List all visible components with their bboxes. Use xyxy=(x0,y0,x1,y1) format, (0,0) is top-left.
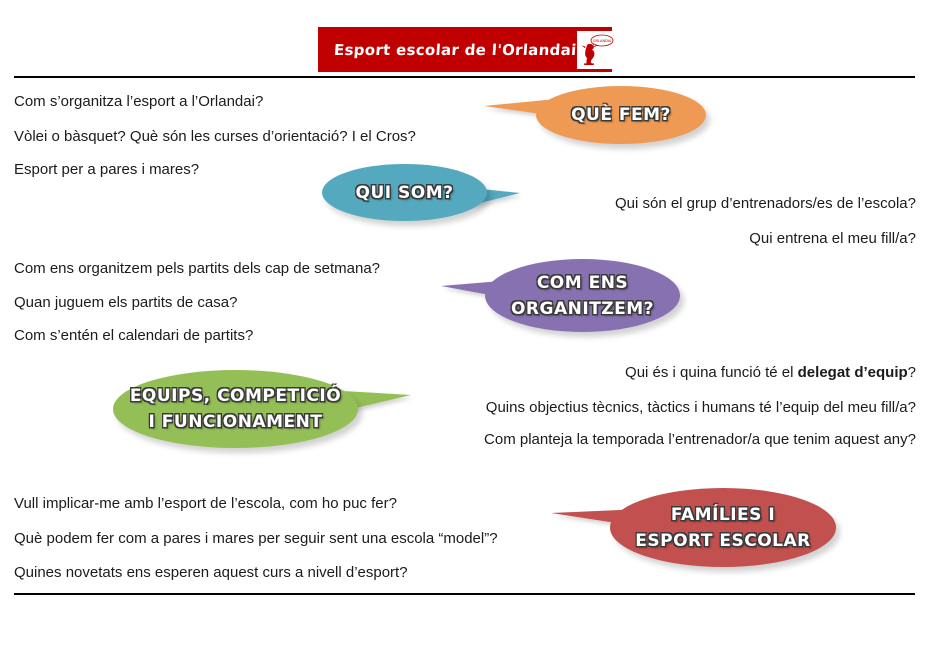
bubble-label-qui-som: QUI SOM? xyxy=(356,180,454,206)
divider-top xyxy=(14,76,915,78)
question-equips-1: Qui és i quina funció té el delegat d’eq… xyxy=(625,363,916,382)
question-que-fem-1: Com s’organitza l’esport a l’Orlandai? xyxy=(14,92,263,111)
question-qui-som-2: Qui entrena el meu fill/a? xyxy=(749,229,916,248)
speech-bubble-que-fem[interactable]: QUÈ FEM? xyxy=(536,86,706,144)
bubble-label-com-ens-line1: COM ENS xyxy=(537,270,628,296)
question-families-3: Quines novetats ens esperen aquest curs … xyxy=(14,563,408,582)
question-equips-2: Quins objectius tècnics, tàctics i human… xyxy=(486,398,916,417)
header-banner: Esport escolar de l'Orlandai ORLANDAI xyxy=(318,27,612,72)
svg-text:ORLANDAI: ORLANDAI xyxy=(592,39,611,43)
speech-bubble-com-ens-organitzem[interactable]: COM ENS ORGANITZEM? xyxy=(485,259,680,332)
question-families-1: Vull implicar-me amb l’esport de l’escol… xyxy=(14,494,397,513)
bubble-label-equips-line2: I FUNCIONAMENT xyxy=(149,409,323,435)
page-title: Esport escolar de l'Orlandai xyxy=(333,41,577,59)
speech-bubble-qui-som[interactable]: QUI SOM? xyxy=(322,164,487,221)
speech-bubble-families-esport-escolar[interactable]: FAMÍLIES I ESPORT ESCOLAR xyxy=(610,488,836,567)
question-que-fem-3: Esport per a pares i mares? xyxy=(14,160,199,179)
speech-bubble-equips-competicio[interactable]: EQUIPS, COMPETICIÓ I FUNCIONAMENT xyxy=(113,370,358,448)
question-families-2: Què podem fer com a pares i mares per se… xyxy=(14,529,498,548)
question-qui-som-1: Qui són el grup d’entrenadors/es de l’es… xyxy=(615,194,916,213)
question-com-ens-1: Com ens organitzem pels partits dels cap… xyxy=(14,259,380,278)
bubble-label-families-line1: FAMÍLIES I xyxy=(671,502,775,528)
question-equips-1-bold: delegat d’equip xyxy=(798,364,908,381)
divider-bottom xyxy=(14,593,915,595)
bubble-label-families-line2: ESPORT ESCOLAR xyxy=(635,528,810,554)
question-com-ens-3: Com s’entén el calendari de partits? xyxy=(14,326,253,345)
question-com-ens-2: Quan juguem els partits de casa? xyxy=(14,293,237,312)
question-equips-3: Com planteja la temporada l’entrenador/a… xyxy=(484,430,916,449)
question-que-fem-2: Vòlei o bàsquet? Què són les curses d’or… xyxy=(14,127,416,146)
question-equips-1-pre: Qui és i quina funció té el xyxy=(625,364,798,381)
bubble-label-com-ens-line2: ORGANITZEM? xyxy=(511,296,654,322)
bubble-label-que-fem: QUÈ FEM? xyxy=(571,102,671,128)
orlandai-mascot-logo: ORLANDAI xyxy=(577,31,615,69)
question-equips-1-post: ? xyxy=(908,364,916,381)
bubble-label-equips-line1: EQUIPS, COMPETICIÓ xyxy=(130,383,341,409)
